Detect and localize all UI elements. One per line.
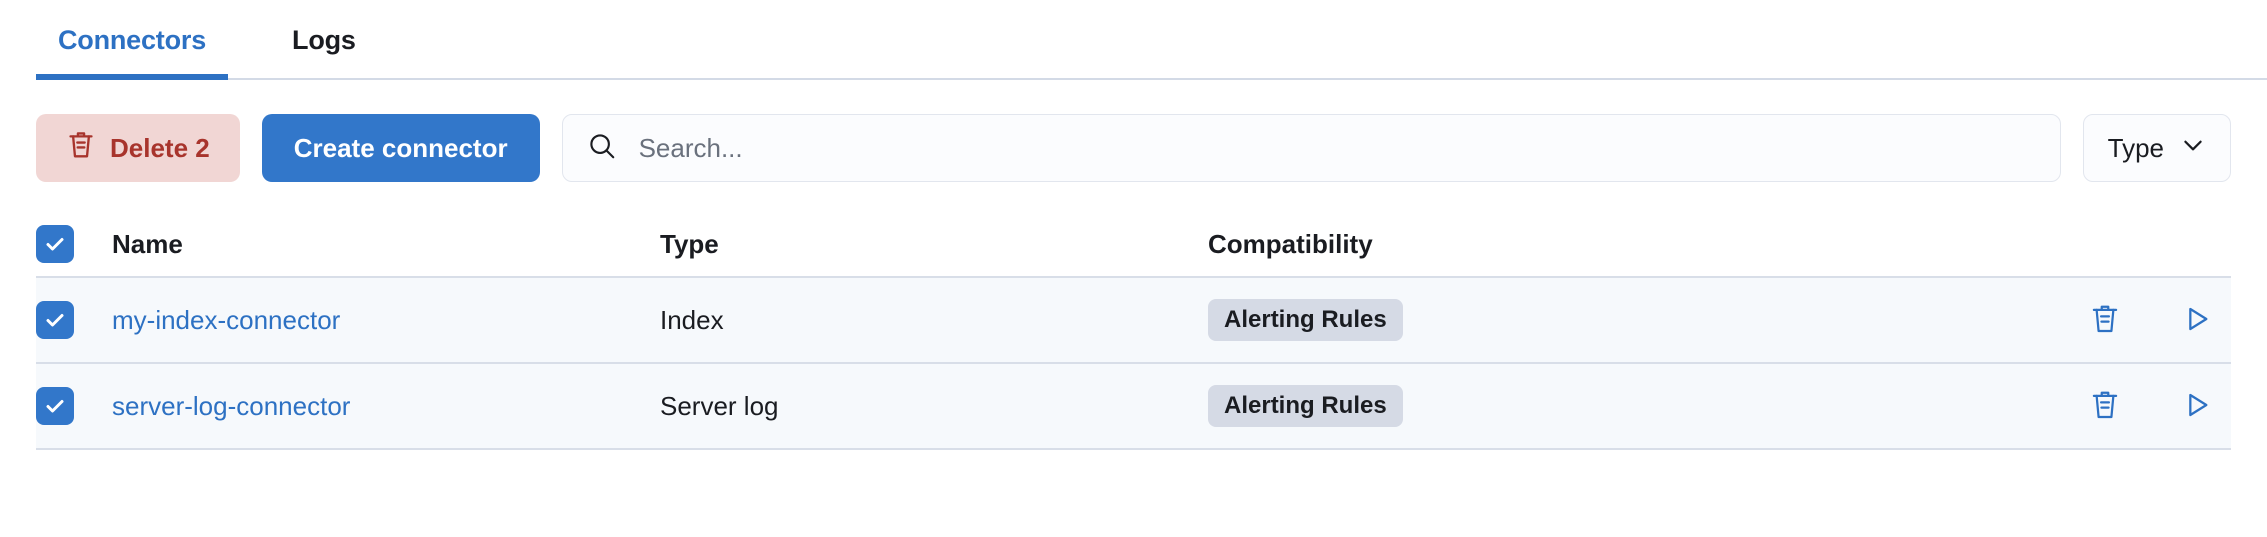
- tab-logs-label: Logs: [292, 25, 356, 56]
- search-icon: [587, 131, 617, 166]
- row-checkbox[interactable]: [36, 387, 74, 425]
- type-filter-label: Type: [2108, 133, 2164, 164]
- table-row[interactable]: my-index-connector Index Alerting Rules: [36, 278, 2231, 364]
- row-run-button[interactable]: [2181, 389, 2213, 424]
- row-type-cell: Server log: [660, 391, 1208, 422]
- row-compatibility-cell: Alerting Rules: [1208, 299, 2031, 341]
- search-box[interactable]: [562, 114, 2061, 182]
- trash-icon: [66, 129, 96, 168]
- tab-bar: Connectors Logs: [0, 0, 2267, 80]
- play-icon: [2181, 389, 2213, 424]
- connector-name-link[interactable]: server-log-connector: [112, 391, 350, 421]
- row-delete-button[interactable]: [2089, 388, 2121, 425]
- row-type-cell: Index: [660, 305, 1208, 336]
- row-name-cell: my-index-connector: [112, 305, 660, 336]
- table-header-row: Name Type Compatibility: [36, 212, 2231, 278]
- connectors-table: Name Type Compatibility my-index-connect…: [36, 212, 2231, 450]
- status-badge: Alerting Rules: [1208, 385, 1403, 427]
- create-connector-button[interactable]: Create connector: [262, 114, 540, 182]
- search-input[interactable]: [637, 132, 2036, 165]
- row-actions-cell: [2031, 388, 2231, 425]
- column-header-name[interactable]: Name: [112, 229, 660, 260]
- trash-icon: [2089, 302, 2121, 339]
- delete-button[interactable]: Delete 2: [36, 114, 240, 182]
- row-checkbox[interactable]: [36, 301, 74, 339]
- create-connector-label: Create connector: [294, 133, 508, 164]
- delete-button-label: Delete 2: [110, 133, 210, 164]
- status-badge: Alerting Rules: [1208, 299, 1403, 341]
- row-delete-button[interactable]: [2089, 302, 2121, 339]
- column-header-compatibility[interactable]: Compatibility: [1208, 229, 2031, 260]
- row-select-cell: [36, 301, 112, 339]
- tab-logs[interactable]: Logs: [270, 0, 378, 80]
- row-actions-cell: [2031, 302, 2231, 339]
- chevron-down-icon: [2180, 132, 2206, 165]
- tab-connectors-label: Connectors: [58, 25, 206, 56]
- type-filter-dropdown[interactable]: Type: [2083, 114, 2231, 182]
- row-name-cell: server-log-connector: [112, 391, 660, 422]
- row-compatibility-cell: Alerting Rules: [1208, 385, 2031, 427]
- row-run-button[interactable]: [2181, 303, 2213, 338]
- connector-name-link[interactable]: my-index-connector: [112, 305, 340, 335]
- toolbar: Delete 2 Create connector Type: [0, 80, 2267, 182]
- play-icon: [2181, 303, 2213, 338]
- select-all-cell: [36, 225, 112, 263]
- trash-icon: [2089, 388, 2121, 425]
- tab-connectors[interactable]: Connectors: [36, 0, 228, 80]
- row-select-cell: [36, 387, 112, 425]
- column-header-type[interactable]: Type: [660, 229, 1208, 260]
- table-row[interactable]: server-log-connector Server log Alerting…: [36, 364, 2231, 450]
- select-all-checkbox[interactable]: [36, 225, 74, 263]
